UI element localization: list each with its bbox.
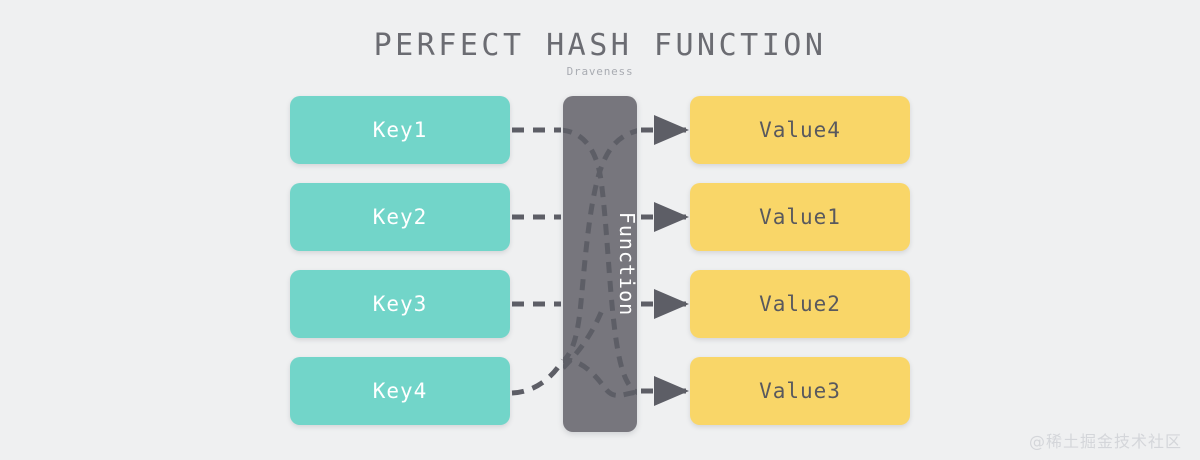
key-node[interactable]: Key1: [290, 96, 510, 164]
page-title: PERFECT HASH FUNCTION: [0, 28, 1200, 63]
value-node-label: Value3: [759, 379, 841, 403]
hash-label-line2: Function: [615, 212, 637, 316]
value-node[interactable]: Value4: [690, 96, 910, 164]
value-node[interactable]: Value2: [690, 270, 910, 338]
value-node-label: Value4: [759, 118, 841, 142]
key-node-label: Key2: [373, 205, 428, 229]
diagram-canvas: PERFECT HASH FUNCTION Draveness Key1 Key…: [0, 0, 1200, 460]
inner-path-c: [563, 360, 637, 396]
inner-path-d: [563, 308, 603, 368]
key-node[interactable]: Key2: [290, 183, 510, 251]
key-node[interactable]: Key4: [290, 357, 510, 425]
key-node-label: Key4: [373, 379, 428, 403]
key-node-label: Key3: [373, 292, 428, 316]
value-node[interactable]: Value1: [690, 183, 910, 251]
page-subtitle: Draveness: [0, 65, 1200, 78]
watermark: @稀土掘金技术社区: [1029, 428, 1182, 452]
inner-path-b: [563, 130, 637, 364]
value-node-label: Value2: [759, 292, 841, 316]
key-node-label: Key1: [373, 118, 428, 142]
inner-path-a: [563, 130, 637, 394]
wire-key4-in: [512, 360, 563, 393]
hash-internal-wires: [563, 96, 637, 432]
value-node-label: Value1: [759, 205, 841, 229]
key-node[interactable]: Key3: [290, 270, 510, 338]
hash-function-label: Hash Function: [563, 96, 637, 432]
value-node[interactable]: Value3: [690, 357, 910, 425]
hash-function-box[interactable]: Hash Function: [563, 96, 637, 432]
